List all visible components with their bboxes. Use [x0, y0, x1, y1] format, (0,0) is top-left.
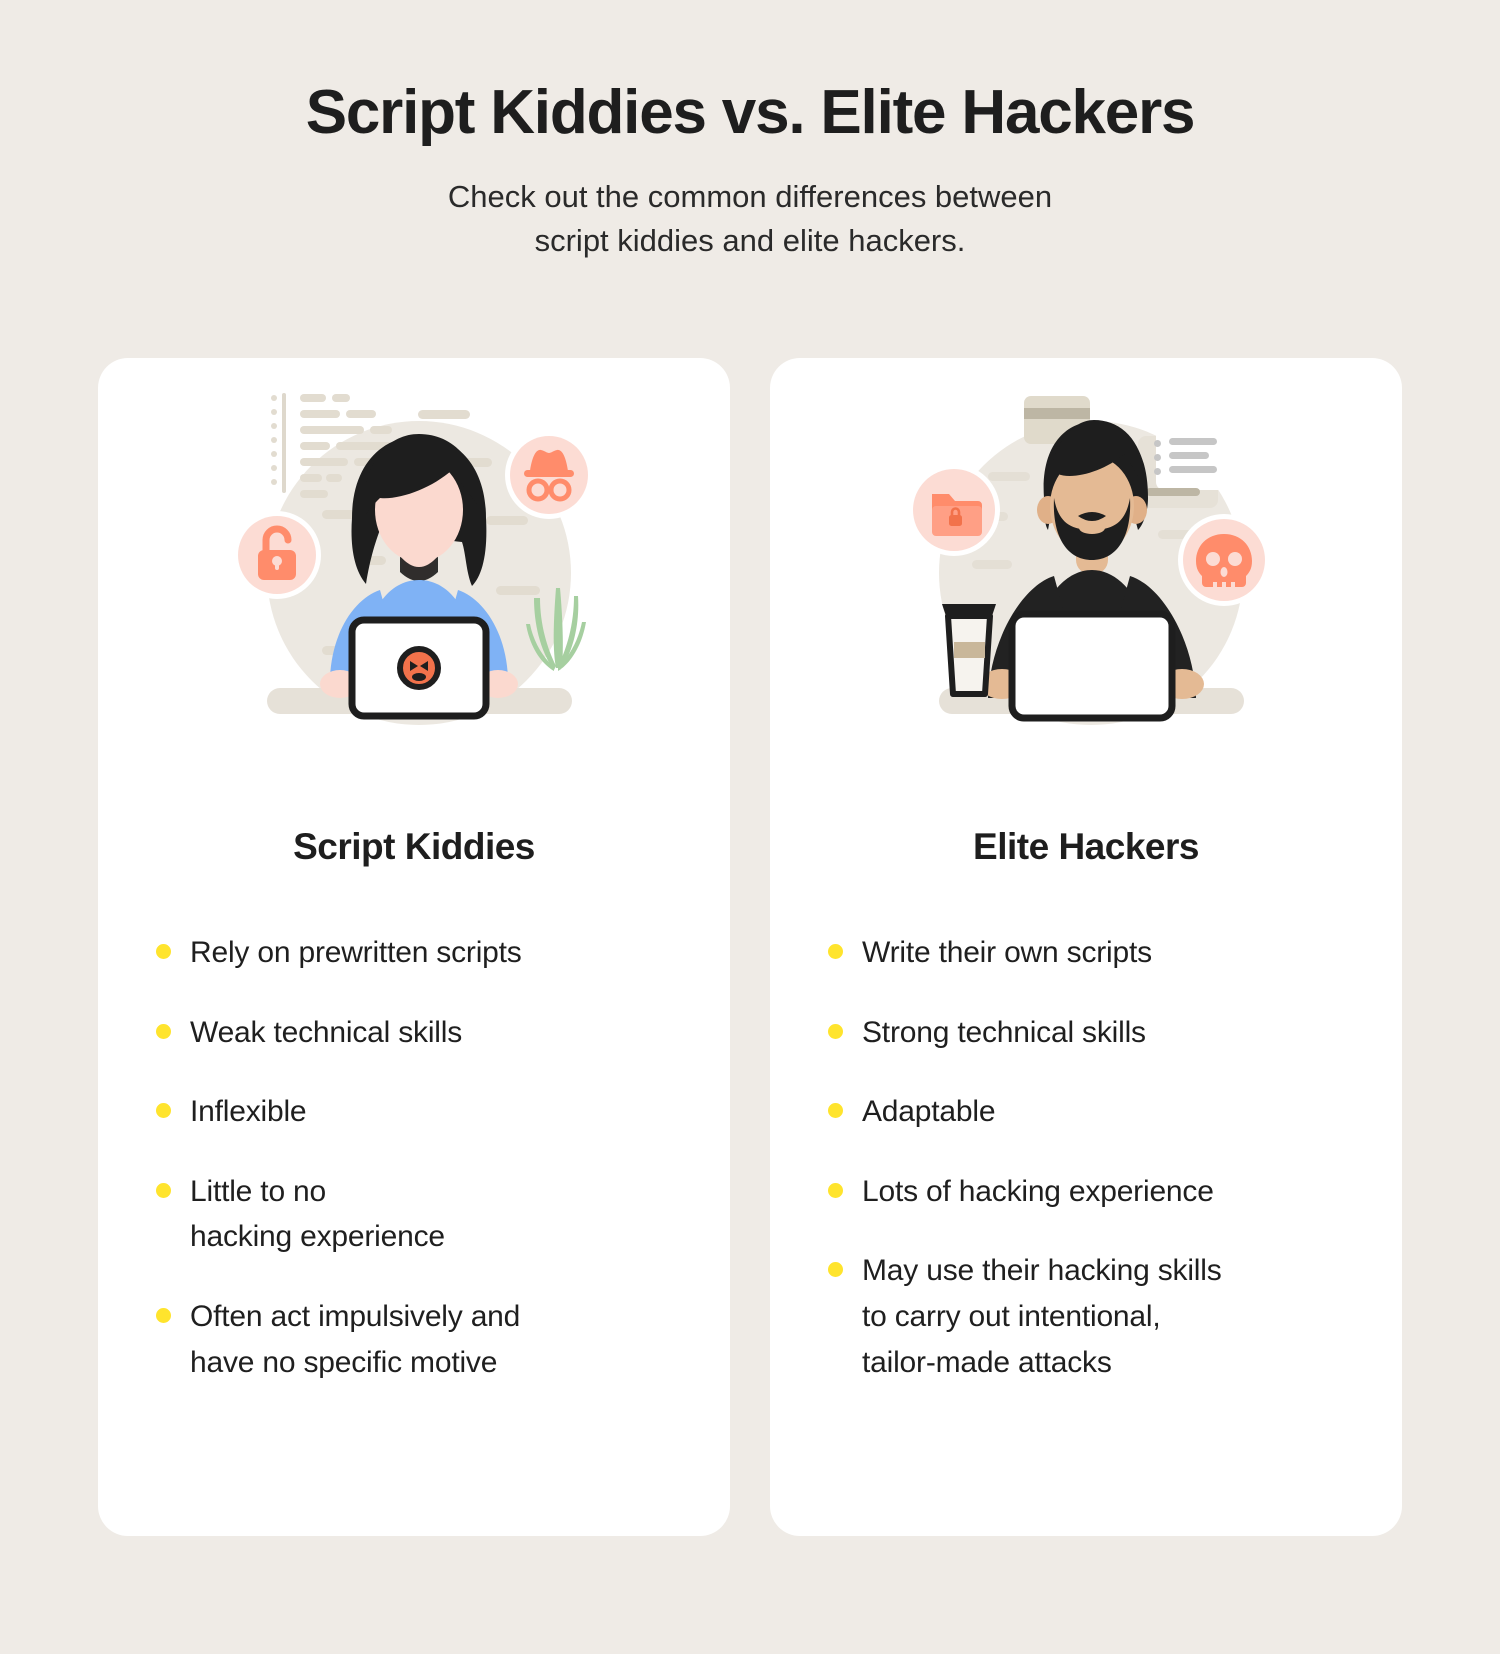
angry-face-sticker — [400, 649, 438, 687]
list-item: Inflexible — [156, 1089, 690, 1135]
list-item: Write their own scripts — [828, 930, 1362, 976]
card-elite-hackers: Elite Hackers Write their own scripts St… — [770, 358, 1402, 1536]
bullet-dot-icon — [828, 1262, 843, 1277]
list-item: Lots of hacking experience — [828, 1169, 1362, 1215]
bullet-dot-icon — [156, 944, 171, 959]
bullet-label: Strong technical skills — [862, 1010, 1146, 1056]
bullet-dot-icon — [828, 944, 843, 959]
bullet-dot-icon — [828, 1183, 843, 1198]
bullet-dot-icon — [156, 1024, 171, 1039]
list-item: Often act impulsively and have no specif… — [156, 1294, 690, 1385]
bullet-dot-icon — [156, 1103, 171, 1118]
bullet-label: Often act impulsively and have no specif… — [190, 1294, 520, 1385]
page-title: Script Kiddies vs. Elite Hackers — [0, 78, 1500, 147]
bullet-dot-icon — [156, 1183, 171, 1198]
subtitle-line-1: Check out the common differences between — [340, 175, 1160, 219]
unlock-icon-badge — [233, 511, 321, 599]
bullet-label: May use their hacking skills to carry ou… — [862, 1248, 1222, 1385]
card-heading-script-kiddies: Script Kiddies — [98, 826, 730, 868]
bullet-dot-icon — [828, 1103, 843, 1118]
bullet-dot-icon — [156, 1308, 171, 1323]
card-script-kiddies: Script Kiddies Rely on prewritten script… — [98, 358, 730, 1536]
skull-icon-badge — [1178, 514, 1270, 606]
page-subtitle: Check out the common differences between… — [340, 175, 1160, 263]
laptop — [1012, 614, 1172, 718]
bullet-dot-icon — [828, 1024, 843, 1039]
infographic-page: Script Kiddies vs. Elite Hackers Check o… — [0, 0, 1500, 1654]
bullet-label: Lots of hacking experience — [862, 1169, 1214, 1215]
mouth — [1079, 522, 1105, 534]
elite-hacker-illustration — [770, 358, 1402, 778]
header: Script Kiddies vs. Elite Hackers Check o… — [0, 0, 1500, 263]
elite-hacker-svg — [876, 358, 1296, 758]
list-item: Weak technical skills — [156, 1010, 690, 1056]
list-item: Adaptable — [828, 1089, 1362, 1135]
script-kiddie-illustration — [98, 358, 730, 778]
list-item: Strong technical skills — [828, 1010, 1362, 1056]
bullet-label: Inflexible — [190, 1089, 306, 1135]
card-heading-elite-hackers: Elite Hackers — [770, 826, 1402, 868]
list-item: Little to no hacking experience — [156, 1169, 690, 1260]
bullet-label: Write their own scripts — [862, 930, 1152, 976]
subtitle-line-2: script kiddies and elite hackers. — [340, 219, 1160, 263]
coffee-cup-icon — [942, 604, 996, 694]
document-icon — [1138, 426, 1230, 508]
bullet-label: Adaptable — [862, 1089, 995, 1135]
incognito-icon-badge — [505, 431, 593, 519]
bullet-list-script-kiddies: Rely on prewritten scripts Weak technica… — [98, 930, 730, 1385]
locked-folder-icon-badge — [908, 464, 1000, 556]
list-item: Rely on prewritten scripts — [156, 930, 690, 976]
bullet-label: Little to no hacking experience — [190, 1169, 445, 1260]
laptop — [352, 620, 486, 716]
script-kiddie-svg — [204, 358, 624, 758]
list-item: May use their hacking skills to carry ou… — [828, 1248, 1362, 1385]
bullet-list-elite-hackers: Write their own scripts Strong technical… — [770, 930, 1402, 1385]
bullet-label: Weak technical skills — [190, 1010, 462, 1056]
comparison-cards: Script Kiddies Rely on prewritten script… — [98, 358, 1402, 1536]
bullet-label: Rely on prewritten scripts — [190, 930, 522, 976]
